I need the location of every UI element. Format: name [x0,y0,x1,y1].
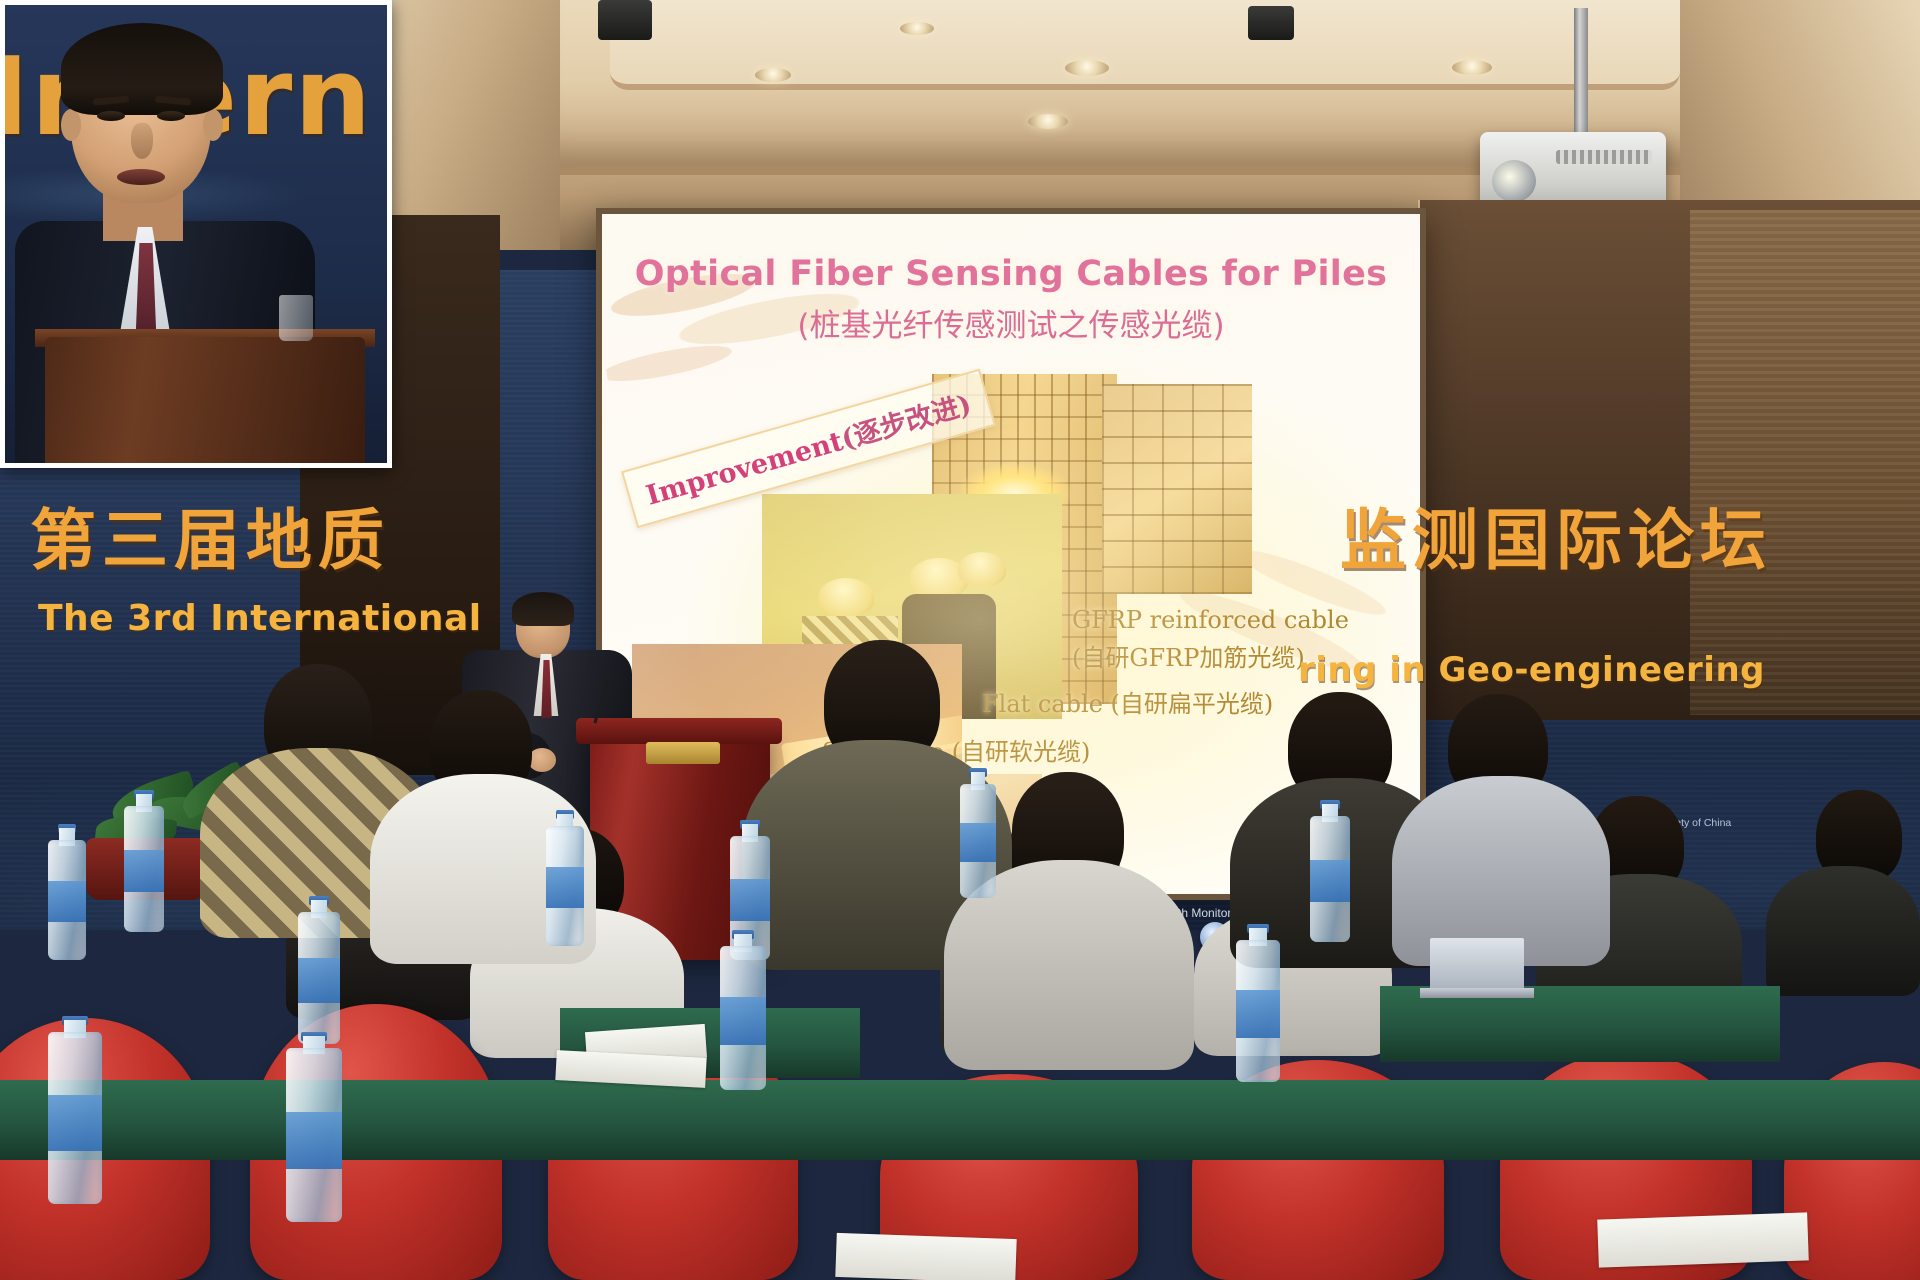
paper-sheet-3 [1597,1212,1809,1267]
inset-mouth [117,169,165,185]
downlight-1 [1065,60,1109,76]
bottle-label [298,958,340,1002]
laptop-icon-base [1420,988,1534,998]
projector-mount-pole [1574,8,1588,138]
bottle-label [1310,860,1350,903]
banner-title-en-left: The 3rd International [38,598,482,639]
projector-vent [1556,150,1652,164]
bottle-label [720,997,766,1045]
laptop-icon-screen [1430,938,1524,990]
audience-shoulders-far-6 [1766,866,1920,996]
inset-eye-left [97,111,125,121]
bottle-label [124,850,164,893]
downlight-2 [1028,114,1068,129]
water-bottle-1 [48,824,86,960]
wall-wood-panel-right [1690,210,1920,715]
caption-flat-en: Flat cable [982,690,1103,718]
downlight-5 [900,22,934,35]
speaker-hair [512,592,574,626]
water-bottle-10 [286,1032,342,1222]
inset-eye-right [157,111,185,121]
inset-hair [61,23,223,115]
podium-top-surface [576,718,782,744]
hardhat-icon-1 [818,578,874,616]
bottle-label [1236,990,1280,1037]
inset-water-glass [279,295,313,341]
caption-flat-cn: (自研扁平光缆) [1111,690,1274,718]
bottle-label [960,823,996,862]
slide-photo-gfrp-sample [1102,384,1252,594]
inset-speaker-portrait: Intern [0,0,392,468]
inset-ear-right [203,109,223,141]
downlight-4 [755,68,791,82]
hardhat-icon-3 [958,552,1006,586]
banner-title-en-right: ring in Geo-engineering [1298,650,1765,690]
bottle-label [546,867,584,908]
banner-title-cn-right: 监测国际论坛 [1340,487,1772,583]
banner-title-cn-left: 第三届地质 [30,487,390,583]
water-bottle-11 [48,1016,102,1204]
water-bottle-7 [960,768,996,898]
water-bottle-4 [546,810,584,946]
slide-title-en: Optical Fiber Sensing Cables for Piles [602,254,1420,294]
water-bottle-2 [124,790,164,932]
speaker-hand [528,748,556,772]
conference-photo-scene: Optical Fiber Sensing Cables for Piles (… [0,0,1920,1280]
water-bottle-6 [720,930,766,1090]
inset-nose [131,123,153,159]
caption-gfrp-en: GFRP reinforced cable [1072,606,1349,634]
downlight-3 [1452,60,1492,75]
inset-ear-left [61,109,81,141]
gfrp-grid-texture [1102,384,1252,594]
water-bottle-3 [298,896,340,1044]
inset-podium [45,337,365,468]
podium-nameplate [646,742,720,764]
bottle-label [286,1112,342,1169]
bottle-label [48,1095,102,1151]
slide-title-cn: (桩基光纤传感测试之传感光缆) [602,300,1420,345]
caption-gfrp-cn: (自研GFRP加筋光缆) [1072,638,1305,673]
water-bottle-8 [1236,924,1280,1082]
caption-soft-cn: (自研软光缆) [952,738,1091,766]
ceiling-speaker-right [1248,6,1294,40]
caption-flat-cable: Flat cable (自研扁平光缆) [982,684,1273,719]
bottle-label [730,879,770,921]
paper-sheet-4 [835,1233,1016,1280]
projector-lens-icon [1492,160,1536,202]
water-bottle-9 [1310,800,1350,942]
bottle-label [48,881,86,922]
ceiling-speaker-left [598,0,652,40]
